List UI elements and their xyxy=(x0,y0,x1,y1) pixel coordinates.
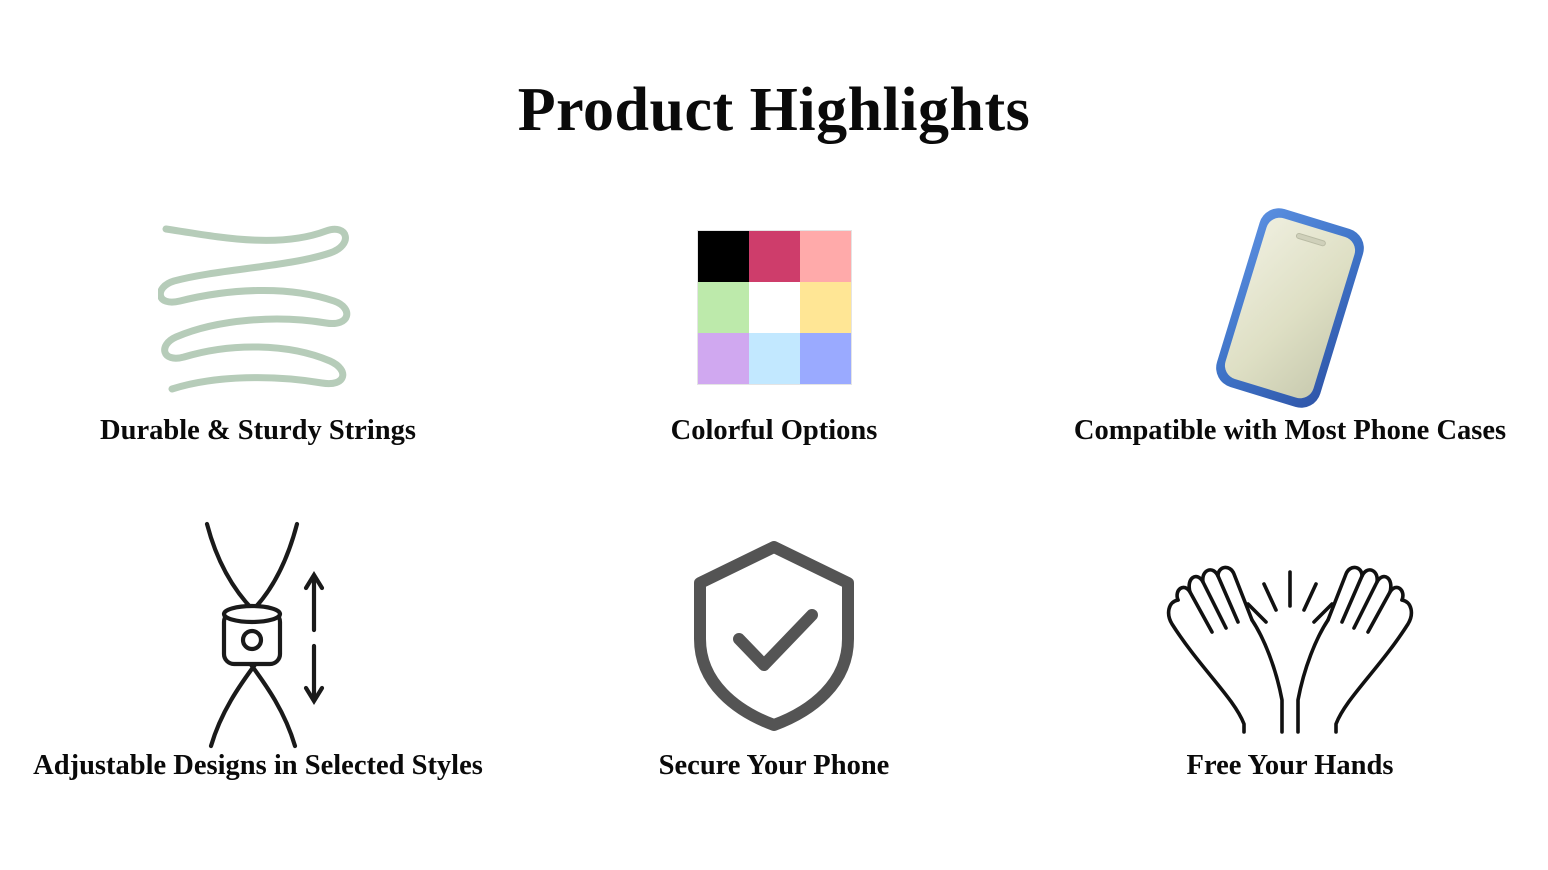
swatch-mint-green xyxy=(698,282,749,333)
icon-container xyxy=(1190,200,1390,415)
color-swatch-grid-icon xyxy=(698,231,851,384)
highlight-label: Colorful Options xyxy=(671,415,878,446)
swatch-salmon xyxy=(800,231,851,282)
highlight-cell-compatible-cases: Compatible with Most Phone Cases xyxy=(1032,200,1548,520)
woven-string-icon xyxy=(158,215,358,400)
swatch-lavender xyxy=(698,333,749,384)
highlight-cell-adjustable-designs: Adjustable Designs in Selected Styles xyxy=(0,520,516,840)
cord-lock-adjuster-icon xyxy=(173,520,343,750)
swatch-white xyxy=(749,282,800,333)
highlight-cell-durable-strings: Durable & Sturdy Strings xyxy=(0,200,516,520)
icon-container xyxy=(698,200,851,415)
swatch-sky-blue xyxy=(749,333,800,384)
shield-check-icon xyxy=(682,535,867,735)
highlight-cell-colorful-options: Colorful Options xyxy=(516,200,1032,520)
product-highlights-page: Product Highlights Durable & Sturdy Stri… xyxy=(0,0,1548,870)
open-hands-sparkle-icon xyxy=(1160,528,1420,743)
highlight-cell-secure-phone: Secure Your Phone xyxy=(516,520,1032,840)
page-title: Product Highlights xyxy=(0,78,1548,143)
swatch-butter xyxy=(800,282,851,333)
swatch-black xyxy=(698,231,749,282)
tilted-phone-icon xyxy=(1190,203,1390,413)
highlight-label: Free Your Hands xyxy=(1187,750,1394,781)
icon-container xyxy=(158,200,358,415)
highlight-cell-free-hands: Free Your Hands xyxy=(1032,520,1548,840)
swatch-rose xyxy=(749,231,800,282)
highlight-label: Adjustable Designs in Selected Styles xyxy=(33,750,483,781)
icon-container xyxy=(682,520,867,750)
highlight-label: Secure Your Phone xyxy=(659,750,890,781)
highlight-grid: Durable & Sturdy Strings Colorful Option… xyxy=(0,200,1548,840)
icon-container xyxy=(173,520,343,750)
icon-container xyxy=(1160,520,1420,750)
swatch-periwinkle xyxy=(800,333,851,384)
highlight-label: Compatible with Most Phone Cases xyxy=(1074,415,1506,446)
highlight-label: Durable & Sturdy Strings xyxy=(100,415,416,446)
